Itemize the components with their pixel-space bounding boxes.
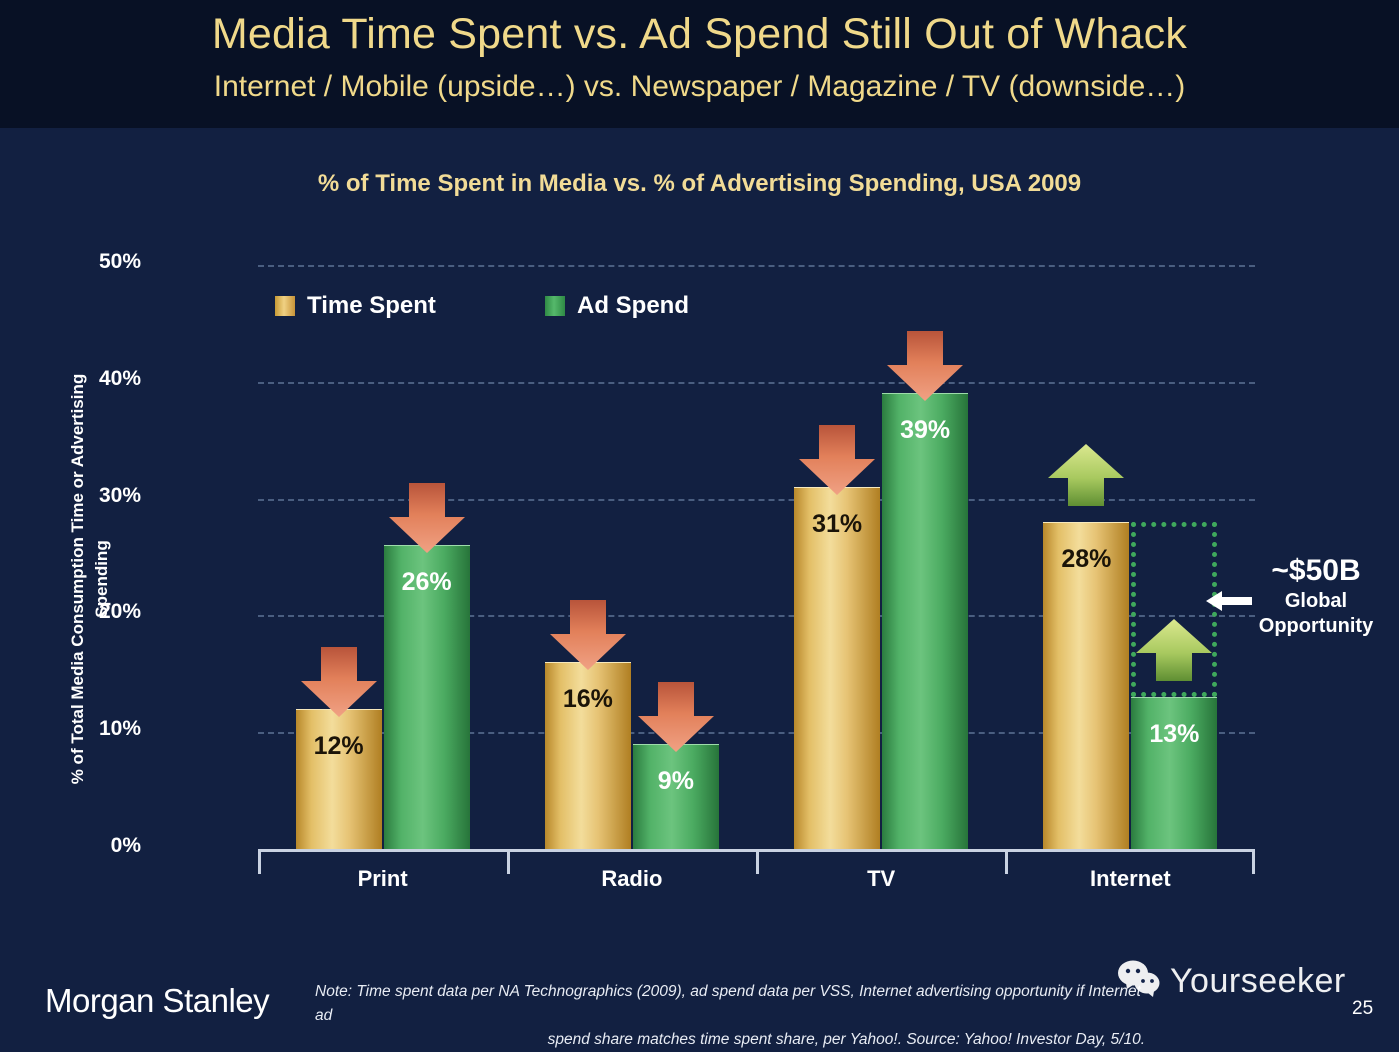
bar-tv-time-spent: 31% — [794, 487, 880, 850]
gridline-50% — [258, 265, 1255, 267]
trend-arrow-down-radio-ad-spend — [636, 682, 716, 754]
bar-value-label: 31% — [794, 510, 880, 539]
bar-internet-ad-spend: 13% — [1131, 697, 1217, 850]
opportunity-box — [1131, 522, 1217, 697]
bar-value-label: 39% — [882, 416, 968, 445]
y-axis-tick-label: 40% — [21, 367, 141, 391]
chart-title: % of Time Spent in Media vs. % of Advert… — [0, 170, 1399, 198]
footnote-line-2: spend share matches time spent share, pe… — [548, 1031, 1145, 1048]
x-axis-tick-start — [258, 852, 261, 874]
bar-radio-ad-spend: 9% — [633, 744, 719, 850]
x-axis-tick-end — [1252, 852, 1255, 874]
trend-arrow-down-tv-time-spent — [797, 425, 877, 497]
watermark-text: Yourseeker — [1170, 962, 1346, 1001]
bar-value-label: 9% — [633, 767, 719, 796]
x-axis-tick-1 — [507, 852, 510, 874]
bar-internet-time-spent: 28% — [1043, 522, 1129, 850]
callout-line3: Opportunity — [1236, 614, 1396, 639]
page-number: 25 — [1352, 998, 1373, 1020]
x-axis-label-radio: Radio — [512, 866, 752, 892]
y-axis-tick-label: 20% — [21, 600, 141, 624]
bar-print-ad-spend: 26% — [384, 545, 470, 850]
legend-item-time-spent[interactable]: Time Spent — [275, 292, 436, 320]
x-axis-tick-2 — [756, 852, 759, 874]
morgan-stanley-logo: Morgan Stanley — [45, 982, 269, 1020]
trend-arrow-down-print-time-spent — [299, 647, 379, 719]
bar-tv-ad-spend: 39% — [882, 393, 968, 850]
legend-swatch-icon-time-spent — [275, 296, 295, 316]
bar-value-label: 16% — [545, 685, 631, 714]
trend-arrow-down-radio-time-spent — [548, 600, 628, 672]
x-axis-label-print: Print — [263, 866, 503, 892]
footnote: Note: Time spent data per NA Technograph… — [315, 980, 1145, 1052]
slide-root: Media Time Spent vs. Ad Spend Still Out … — [0, 0, 1399, 1052]
y-axis-tick-label: 30% — [21, 484, 141, 508]
slide-header: Media Time Spent vs. Ad Spend Still Out … — [0, 0, 1399, 128]
legend-swatch-icon-ad-spend — [545, 296, 565, 316]
trend-arrow-up-internet-time-spent — [1046, 444, 1126, 508]
bar-value-label: 13% — [1131, 720, 1217, 749]
opportunity-callout: ~$50B Global Opportunity — [1236, 553, 1396, 639]
y-axis-tick-label: 10% — [21, 717, 141, 741]
page-subtitle: Internet / Mobile (upside…) vs. Newspape… — [0, 70, 1399, 104]
page-title: Media Time Spent vs. Ad Spend Still Out … — [0, 10, 1399, 59]
trend-arrow-down-tv-ad-spend — [885, 331, 965, 403]
wechat-icon — [1118, 960, 1162, 1003]
legend-label-time-spent: Time Spent — [307, 292, 436, 320]
bar-value-label: 26% — [384, 568, 470, 597]
bar-radio-time-spent: 16% — [545, 662, 631, 850]
bar-value-label: 28% — [1043, 545, 1129, 574]
x-axis-label-internet: Internet — [1010, 866, 1250, 892]
y-axis-tick-label: 50% — [21, 250, 141, 274]
x-axis-tick-3 — [1005, 852, 1008, 874]
trend-arrow-down-print-ad-spend — [387, 483, 467, 555]
callout-line2: Global — [1236, 589, 1396, 614]
footnote-line-1: Note: Time spent data per NA Technograph… — [315, 980, 1145, 1028]
gridline-40% — [258, 382, 1255, 384]
watermark: Yourseeker — [1118, 960, 1346, 1003]
bar-value-label: 12% — [296, 732, 382, 761]
callout-amount: ~$50B — [1236, 553, 1396, 589]
y-axis-tick-label: 0% — [21, 834, 141, 858]
bar-print-time-spent: 12% — [296, 709, 382, 850]
legend-label-ad-spend: Ad Spend — [577, 292, 689, 320]
x-axis-label-tv: TV — [761, 866, 1001, 892]
legend-item-ad-spend[interactable]: Ad Spend — [545, 292, 689, 320]
